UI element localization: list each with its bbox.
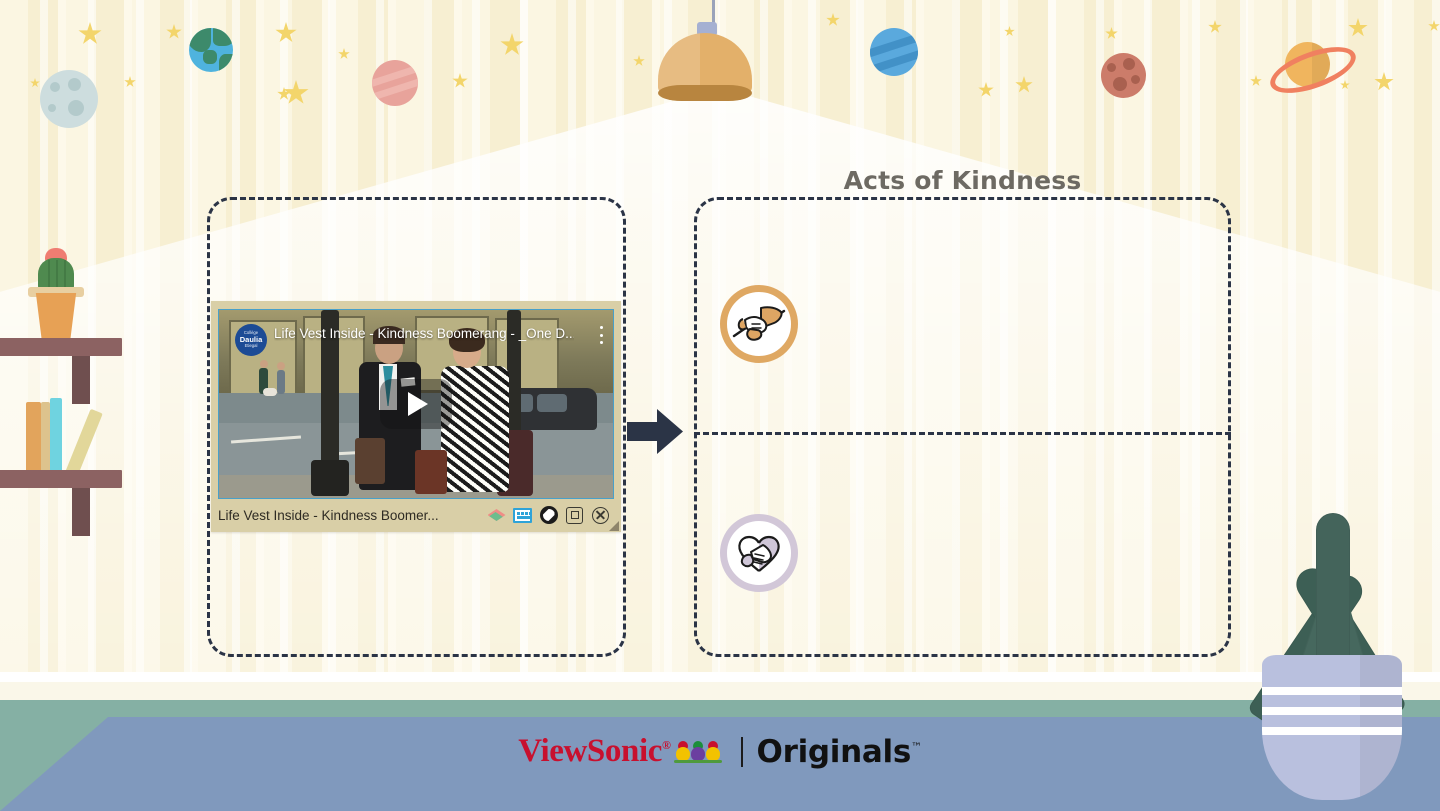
books-group <box>26 398 126 470</box>
footer-logo: ViewSonic® Originals™ <box>0 733 1440 770</box>
window-icon[interactable] <box>565 506 584 525</box>
baseboard-lower <box>0 682 1440 700</box>
viewsonic-wordmark: ViewSonic® <box>518 733 670 770</box>
bird-icon <box>706 741 720 763</box>
avatar-line-3: Etiegal <box>245 344 258 349</box>
avatar-line-1: Collège <box>244 331 258 336</box>
page-title: Acts of Kindness <box>694 166 1231 195</box>
product-text: Originals <box>757 734 911 770</box>
viewsonic-birds-icon <box>676 741 720 763</box>
play-button[interactable] <box>380 379 452 429</box>
brand-text: ViewSonic <box>518 733 662 769</box>
originals-wordmark: Originals™ <box>757 734 922 770</box>
lamp-mouth <box>658 85 752 101</box>
mars-planet-icon <box>1101 53 1146 98</box>
shelf-brace-bottom <box>72 488 90 536</box>
book-cyan <box>50 398 62 470</box>
keyboard-icon[interactable] <box>513 506 532 525</box>
channel-avatar[interactable]: Collège Daulia Etiegal <box>235 324 267 356</box>
video-title[interactable]: Life Vest Inside - Kindness Boomerang - … <box>274 326 574 341</box>
video-player[interactable]: Collège Daulia Etiegal Life Vest Inside … <box>218 309 614 499</box>
book-orange <box>26 402 41 470</box>
lamp-cord <box>712 0 715 24</box>
book-tan <box>41 402 50 470</box>
shelf-bottom <box>0 470 122 488</box>
video-widget-toolbar[interactable] <box>487 506 614 525</box>
book-leaning-yellow <box>66 409 103 475</box>
blue-planet-icon <box>870 28 918 76</box>
baseboard <box>0 672 1440 682</box>
bird-icon <box>676 741 690 763</box>
logo-divider <box>741 737 743 767</box>
registered-mark: ® <box>662 738 671 752</box>
video-caption: Life Vest Inside - Kindness Boomer... <box>218 508 487 523</box>
heart-handshake-icon[interactable] <box>720 514 798 592</box>
play-triangle-icon <box>408 392 428 416</box>
shutter-icon[interactable] <box>539 506 558 525</box>
shelf-top <box>0 338 122 356</box>
moon-planet-icon <box>40 70 98 128</box>
shelf-brace-top <box>72 356 90 404</box>
earth-planet-icon <box>189 28 233 72</box>
more-options-icon[interactable] <box>599 326 603 344</box>
video-widget-statusbar: Life Vest Inside - Kindness Boomer... <box>218 503 614 527</box>
video-widget[interactable]: Collège Daulia Etiegal Life Vest Inside … <box>211 301 621 532</box>
plant-pot <box>1262 655 1402 800</box>
trademark-mark: ™ <box>911 740 922 753</box>
close-icon[interactable] <box>591 506 610 525</box>
layers-icon[interactable] <box>487 506 506 525</box>
pink-planet-icon <box>372 60 418 106</box>
bird-icon <box>691 741 705 763</box>
helping-hands-icon[interactable] <box>720 285 798 363</box>
slide-canvas: Acts of Kindness <box>0 0 1440 811</box>
flow-arrow-right-icon <box>627 408 683 454</box>
panel-row-divider <box>694 432 1231 435</box>
